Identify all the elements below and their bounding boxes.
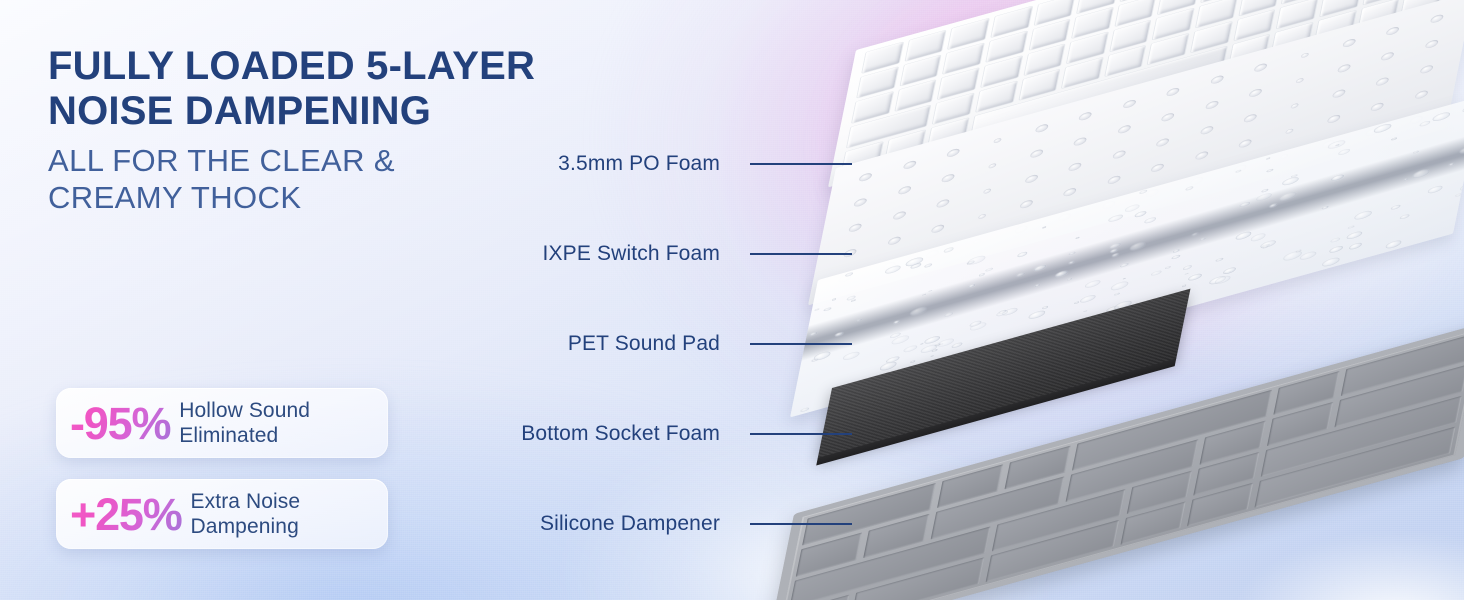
layer-callout-label: 3.5mm PO Foam (558, 152, 720, 176)
leader-line (750, 433, 852, 435)
leader-line (750, 163, 852, 165)
stat-badge-percent: +25% (70, 492, 191, 537)
stat-badge-hollow-sound: -95% Hollow Sound Eliminated (56, 388, 388, 458)
headline-line-2: NOISE DAMPENING (48, 89, 668, 134)
layer-callout-label: Bottom Socket Foam (521, 422, 720, 446)
promo-banner: FULLY LOADED 5-LAYER NOISE DAMPENING ALL… (0, 0, 1464, 600)
layer-callout-socket-foam: Bottom Socket Foam (420, 420, 852, 448)
leader-line (750, 523, 852, 525)
layer-callout-label: IXPE Switch Foam (543, 242, 720, 266)
leader-line (750, 343, 852, 345)
stat-badge-desc-line-2: Eliminated (179, 423, 310, 448)
leader-line (750, 253, 852, 255)
stat-badge-desc-line-1: Extra Noise (191, 489, 301, 514)
stat-badge-extra-noise: +25% Extra Noise Dampening (56, 479, 388, 549)
layer-callout-ixpe-foam: IXPE Switch Foam (420, 240, 852, 268)
stat-badge-description: Hollow Sound Eliminated (179, 398, 310, 448)
stat-badge-desc-line-1: Hollow Sound (179, 398, 310, 423)
layer-callout-silicone-dampener: Silicone Dampener (420, 510, 852, 538)
layer-callout-label: PET Sound Pad (568, 332, 720, 356)
headline-block: FULLY LOADED 5-LAYER NOISE DAMPENING ALL… (48, 44, 668, 216)
headline-line-1: FULLY LOADED 5-LAYER (48, 44, 668, 89)
stat-badge-desc-line-2: Dampening (191, 514, 301, 539)
layer-callout-label: Silicone Dampener (540, 512, 720, 536)
layer-callout-po-foam: 3.5mm PO Foam (420, 150, 852, 178)
layer-callout-pet-pad: PET Sound Pad (420, 330, 852, 358)
subheadline-line-2: CREAMY THOCK (48, 179, 668, 216)
stat-badge-percent: -95% (70, 401, 179, 446)
stat-badge-description: Extra Noise Dampening (191, 489, 301, 539)
